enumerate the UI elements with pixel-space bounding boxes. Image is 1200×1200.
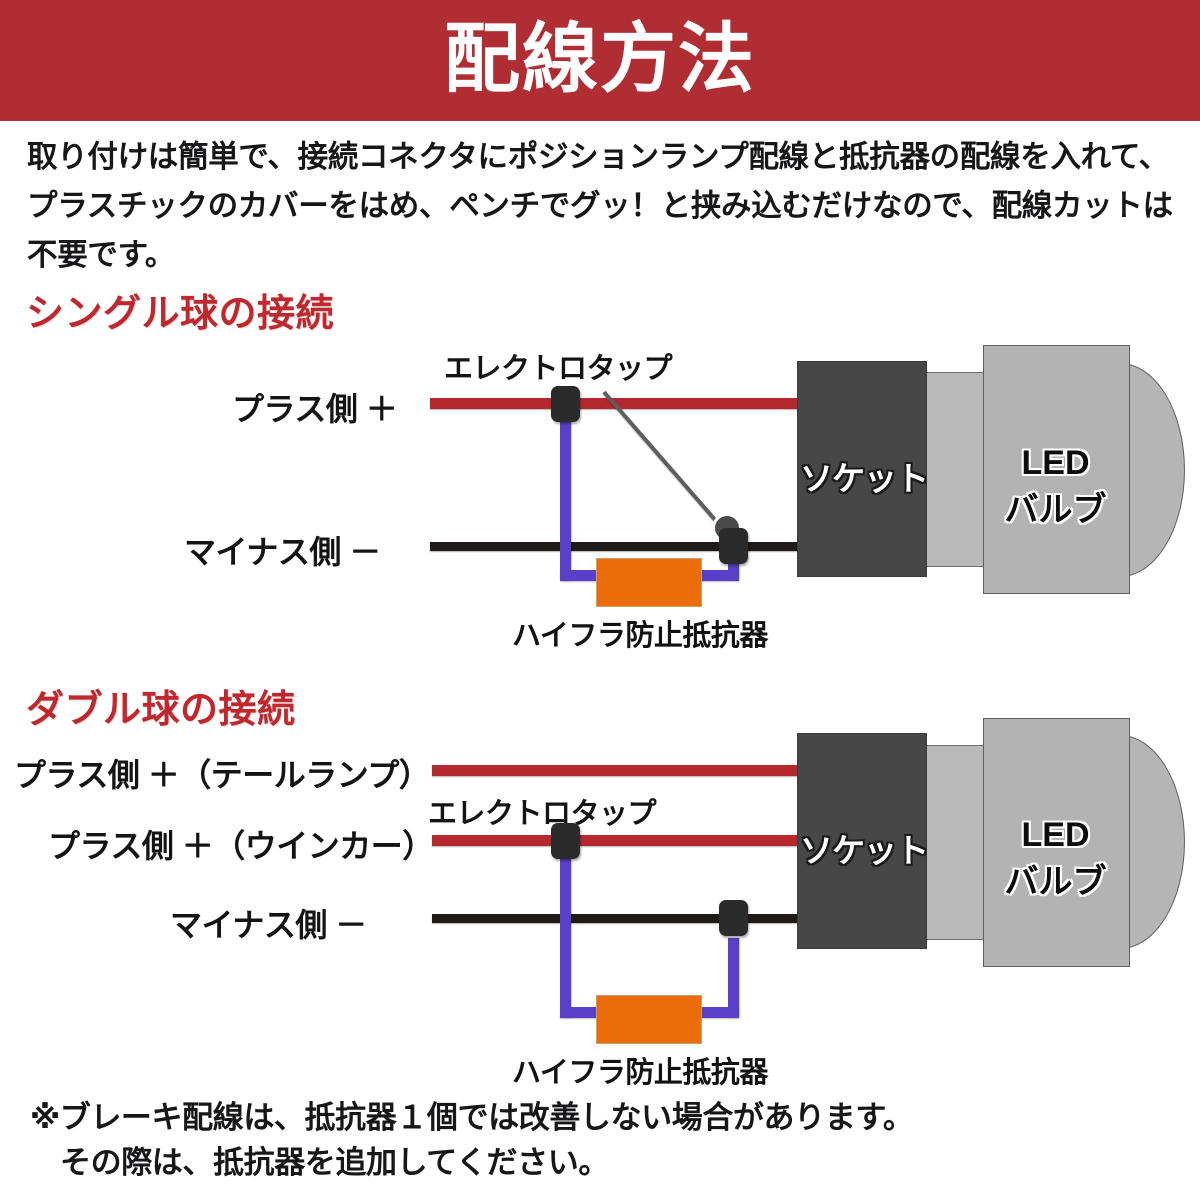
wiring-instruction-page: 配線方法 取り付けは簡単で、接続コネクタにポジションランプ配線と抵抗器の配線を入… bbox=[0, 0, 1200, 1200]
resistor-double bbox=[596, 995, 702, 1044]
led-bulb-line2: バルブ bbox=[1005, 491, 1107, 529]
intro-paragraph: 取り付けは簡単で、接続コネクタにポジションランプ配線と抵抗器の配線を入れて、プラ… bbox=[27, 133, 1177, 280]
led-bulb-line1: LED bbox=[1022, 444, 1090, 482]
electro-tap-positive-single bbox=[551, 386, 580, 422]
electro-tap-winker-double bbox=[551, 823, 580, 859]
wire-positive-tail-double bbox=[432, 765, 812, 776]
label-resistor-double: ハイフラ防止抵抗器 bbox=[512, 1049, 768, 1091]
wire-negative-single bbox=[430, 542, 810, 551]
label-electro-tap-single: エレクトロタップ bbox=[444, 345, 672, 387]
label-plus-tail-double: プラス側 ＋（テールランプ） bbox=[14, 750, 430, 796]
label-minus-double: マイナス側 － bbox=[170, 900, 367, 946]
leader-line-single bbox=[602, 391, 718, 523]
section-heading-single: シングル球の接続 bbox=[26, 282, 334, 337]
label-minus-single: マイナス側 － bbox=[184, 527, 381, 573]
wire-positive-winker-double bbox=[432, 835, 812, 846]
label-electro-tap-double: エレクトロタップ bbox=[428, 790, 656, 832]
footnote-line-1: ※ブレーキ配線は、抵抗器１個では改善しない場合があります。 bbox=[30, 1100, 913, 1135]
electro-tap-negative-double bbox=[719, 900, 748, 936]
label-socket-single: ソケット bbox=[800, 452, 928, 500]
label-plus-single: プラス側 ＋ bbox=[232, 384, 397, 430]
led-bulb-line2: バルブ bbox=[1005, 863, 1107, 901]
footnote: ※ブレーキ配線は、抵抗器１個では改善しない場合があります。 その際は、抵抗器を追… bbox=[30, 1095, 1180, 1185]
label-led-bulb-single: LED バルブ bbox=[983, 440, 1128, 534]
resistor-single bbox=[596, 558, 702, 607]
electro-tap-negative-single bbox=[719, 528, 748, 564]
wire-negative-double bbox=[432, 914, 812, 923]
wire-resistor-vertical-left-single bbox=[560, 410, 571, 581]
page-title: 配線方法 bbox=[0, 4, 1200, 116]
section-heading-double: ダブル球の接続 bbox=[26, 678, 296, 733]
label-socket-double: ソケット bbox=[800, 824, 928, 872]
label-resistor-single: ハイフラ防止抵抗器 bbox=[512, 612, 768, 654]
led-bulb-line1: LED bbox=[1022, 816, 1090, 854]
footnote-line-2: その際は、抵抗器を追加してください。 bbox=[30, 1140, 1180, 1185]
label-plus-winker-double: プラス側 ＋（ウインカー） bbox=[48, 821, 434, 867]
label-led-bulb-double: LED バルブ bbox=[983, 812, 1128, 906]
wire-resistor-vertical-left-double bbox=[560, 848, 571, 1018]
wire-resistor-vertical-right-double bbox=[728, 938, 739, 1018]
